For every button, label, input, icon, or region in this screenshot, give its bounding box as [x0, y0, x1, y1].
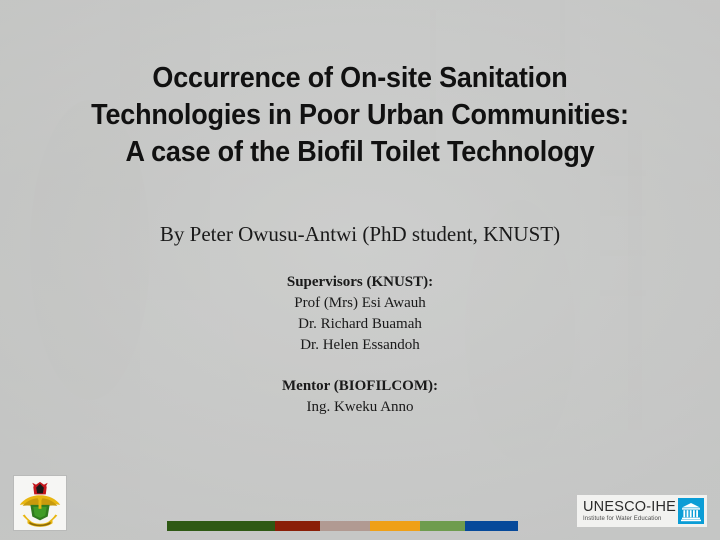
author-line: By Peter Owusu-Antwi (PhD student, KNUST…	[0, 221, 720, 248]
supervisor-name-2: Dr. Richard Buamah	[0, 314, 720, 335]
color-bar-segment-orange	[370, 521, 420, 531]
unesco-ihe-tagline: Institute for Water Education	[583, 515, 678, 523]
title-slide: Occurrence of On-site Sanitation Technol…	[0, 0, 720, 540]
supervisors-heading: Supervisors (KNUST):	[0, 272, 720, 293]
credits-spacer	[0, 356, 720, 376]
knust-crest-logo	[13, 475, 67, 531]
color-bar-segment-dark-red	[275, 521, 320, 531]
title-line-2: Technologies in Poor Urban Communities:	[25, 97, 695, 134]
credits-block: Supervisors (KNUST): Prof (Mrs) Esi Awau…	[0, 272, 720, 418]
page-title: Occurrence of On-site Sanitation Technol…	[0, 60, 720, 171]
unesco-ihe-wordmark: UNESCO-IHE Institute for Water Education	[580, 500, 678, 523]
unesco-ihe-logo: UNESCO-IHE Institute for Water Education	[577, 495, 707, 527]
supervisor-name-1: Prof (Mrs) Esi Awauh	[0, 293, 720, 314]
color-bar-segment-olive-green	[420, 521, 465, 531]
supervisor-name-3: Dr. Helen Essandoh	[0, 335, 720, 356]
unesco-ihe-name: UNESCO-IHE	[583, 500, 678, 515]
title-line-3: A case of the Biofil Toilet Technology	[25, 134, 695, 171]
knust-crest-icon	[14, 476, 66, 530]
temple-icon-glyph	[678, 498, 704, 524]
mentor-heading: Mentor (BIOFILCOM):	[0, 376, 720, 397]
mentor-name-1: Ing. Kweku Anno	[0, 397, 720, 418]
color-bar-segment-taupe	[320, 521, 370, 531]
color-bar-segment-blue	[465, 521, 518, 531]
title-line-1: Occurrence of On-site Sanitation	[25, 60, 695, 97]
color-bar	[167, 521, 518, 531]
unesco-temple-icon	[678, 498, 704, 524]
color-bar-segment-dark-green	[167, 521, 275, 531]
